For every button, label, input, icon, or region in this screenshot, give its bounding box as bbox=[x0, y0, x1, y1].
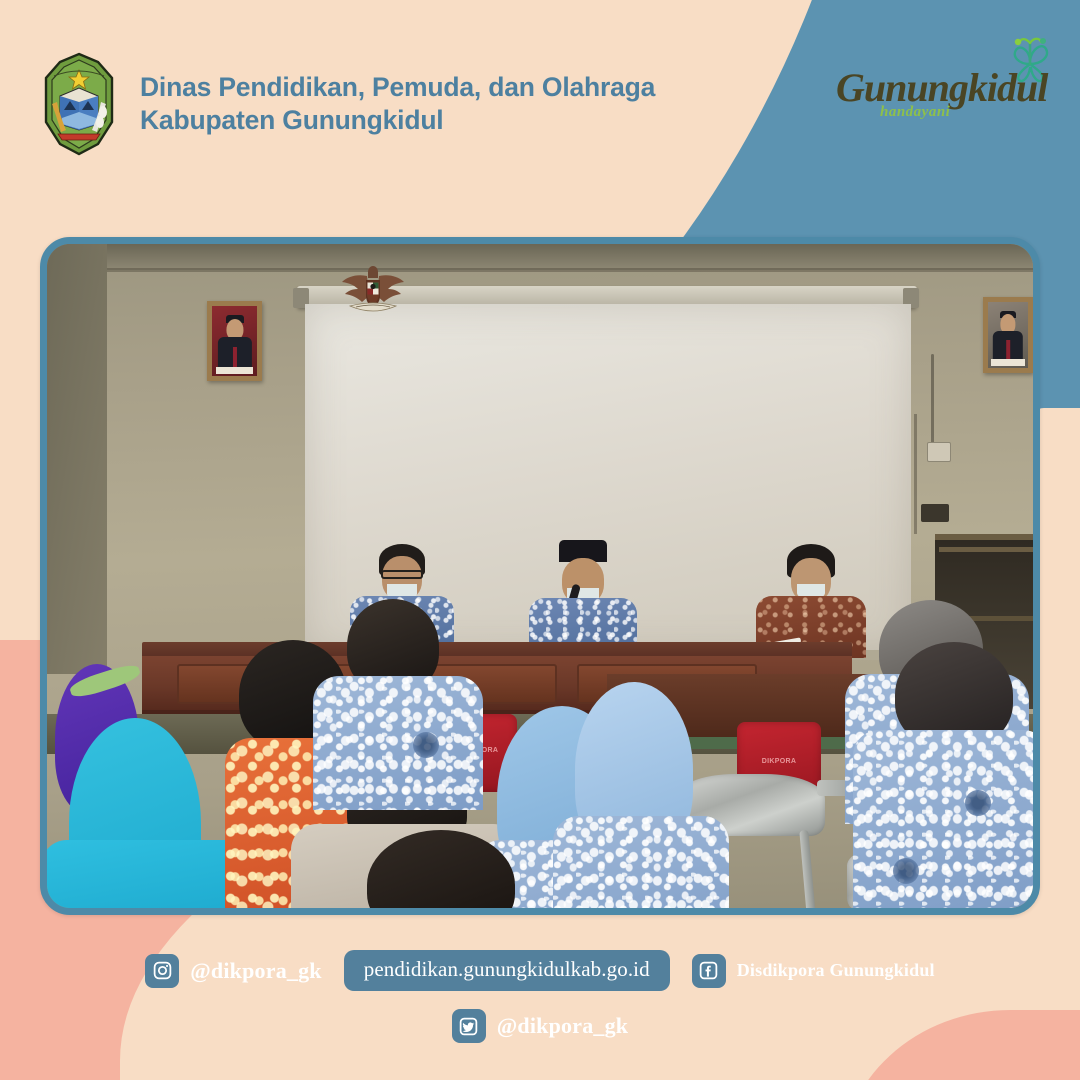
portrait-nameplate bbox=[216, 367, 254, 374]
room-ceiling bbox=[47, 244, 1033, 270]
garuda-pancasila-emblem-icon bbox=[340, 260, 406, 318]
twitter-handle: @dikpora_gk bbox=[497, 1013, 628, 1039]
meeting-photo: DIKPORA DIKPORA bbox=[47, 244, 1033, 908]
speaker-right bbox=[753, 544, 869, 658]
instagram-handle: @dikpora_gk bbox=[190, 958, 321, 984]
poster-footer: @dikpora_gk pendidikan.gunungkidulkab.go… bbox=[0, 950, 1080, 1043]
portrait-nameplate bbox=[991, 359, 1025, 366]
audience-shoulders-turquoise bbox=[47, 840, 251, 908]
twitter-icon[interactable] bbox=[452, 1009, 486, 1043]
speaker-center bbox=[525, 540, 641, 658]
wall-power-outlet bbox=[927, 442, 951, 462]
twitter-account[interactable]: @dikpora_gk bbox=[452, 1009, 628, 1043]
portrait-vice-president-image bbox=[988, 302, 1028, 368]
footer-row-secondary: @dikpora_gk bbox=[0, 1009, 1080, 1043]
wall-left-return bbox=[47, 244, 107, 674]
wall-cable bbox=[931, 354, 934, 446]
facebook-page-name: Disdikpora Gunungkidul bbox=[737, 960, 935, 981]
facebook-account[interactable]: Disdikpora Gunungkidul bbox=[692, 954, 935, 988]
wall-cable-secondary bbox=[914, 414, 917, 534]
poster-canvas: Dinas Pendidikan, Pemuda, dan Olahraga K… bbox=[0, 0, 1080, 1080]
header-title-line-1: Dinas Pendidikan, Pemuda, dan Olahraga bbox=[140, 71, 655, 104]
poster-header: Dinas Pendidikan, Pemuda, dan Olahraga K… bbox=[40, 52, 655, 156]
portrait-necktie bbox=[1006, 340, 1010, 360]
header-title-line-2: Kabupaten Gunungkidul bbox=[140, 104, 655, 137]
portrait-president-image bbox=[212, 306, 257, 376]
portrait-president bbox=[207, 301, 262, 381]
meeting-photo-frame: DIKPORA DIKPORA bbox=[40, 237, 1040, 915]
korpri-emblem-icon bbox=[965, 790, 991, 816]
facebook-icon[interactable] bbox=[692, 954, 726, 988]
audience-korpri-batik bbox=[853, 730, 1033, 908]
footer-row-primary: @dikpora_gk pendidikan.gunungkidulkab.go… bbox=[0, 950, 1080, 991]
korpri-emblem-icon bbox=[893, 858, 919, 884]
gunungkidul-handayani-brandmark: Gunungkidul handayani bbox=[832, 34, 1062, 134]
audience-korpri-batik bbox=[553, 816, 729, 908]
portrait-vice-president bbox=[983, 297, 1033, 373]
audience-korpri-batik bbox=[313, 676, 483, 810]
wall-seam bbox=[47, 268, 1033, 272]
speaker-left-glasses-icon bbox=[381, 570, 423, 579]
gunungkidul-regency-emblem-icon bbox=[40, 52, 118, 156]
cabinet-shelf-upper bbox=[939, 547, 1033, 552]
red-chair-label: DIKPORA bbox=[737, 758, 821, 766]
wall-speaker-box bbox=[921, 504, 949, 522]
website-url-pill[interactable]: pendidikan.gunungkidulkab.go.id bbox=[344, 950, 670, 991]
header-title-block: Dinas Pendidikan, Pemuda, dan Olahraga K… bbox=[140, 71, 655, 138]
portrait-necktie bbox=[232, 347, 236, 368]
instagram-account[interactable]: @dikpora_gk bbox=[145, 954, 321, 988]
brandmark-tagline: handayani bbox=[880, 104, 950, 121]
instagram-icon[interactable] bbox=[145, 954, 179, 988]
korpri-emblem-icon bbox=[413, 732, 439, 758]
